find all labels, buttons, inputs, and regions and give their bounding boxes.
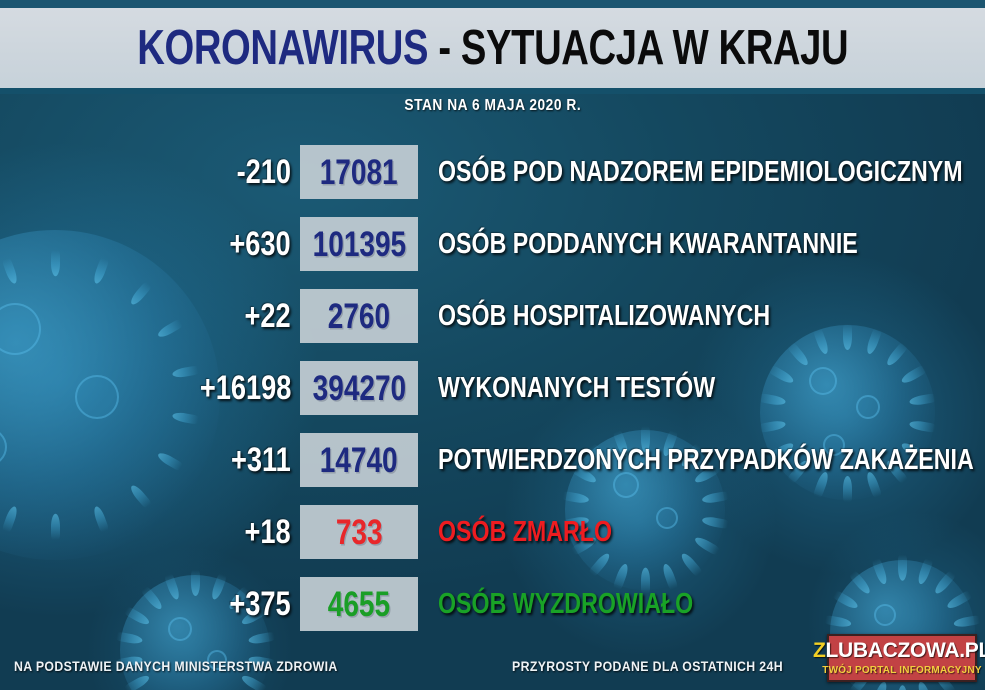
stat-row-deaths: +18 733 OSÓB ZMARŁO bbox=[0, 496, 985, 568]
stat-value-box: 101395 bbox=[300, 217, 418, 271]
virus-spike-icon bbox=[123, 673, 150, 690]
page-title-rest: - SYTUACJA W KRAJU bbox=[428, 21, 848, 75]
stat-delta: +22 bbox=[0, 299, 300, 333]
stat-row-recovered: +375 4655 OSÓB WYZDROWIAŁO bbox=[0, 568, 985, 640]
stat-label-text: OSÓB POD NADZOREM EPIDEMIOLOGICZNYM bbox=[438, 158, 963, 187]
stat-label: WYKONANYCH TESTÓW bbox=[418, 374, 985, 403]
site-logo[interactable]: ZLUBACZOWA.PL TWÓJ PORTAL INFORMACYJNY bbox=[827, 634, 977, 682]
stat-delta: +18 bbox=[0, 515, 300, 549]
logo-name-rest: LUBACZOWA.PL bbox=[825, 639, 985, 662]
stat-value-text: 733 bbox=[336, 515, 383, 550]
top-divider bbox=[0, 0, 985, 8]
coronavirus-infographic: KORONAWIRUS - SYTUACJA W KRAJU STAN NA 6… bbox=[0, 0, 985, 690]
stat-value-box: 14740 bbox=[300, 433, 418, 487]
stat-label: OSÓB POD NADZOREM EPIDEMIOLOGICZNYM bbox=[418, 158, 985, 187]
stat-label-text: OSÓB PODDANYCH KWARANTANNIE bbox=[438, 230, 858, 259]
stat-value-text: 2760 bbox=[328, 299, 390, 334]
stat-delta-text: -210 bbox=[237, 155, 291, 189]
stat-value-box: 17081 bbox=[300, 145, 418, 199]
stat-row: +16198 394270 WYKONANYCH TESTÓW bbox=[0, 352, 985, 424]
stat-label: OSÓB ZMARŁO bbox=[418, 518, 985, 547]
page-title-highlight: KORONAWIRUS bbox=[137, 21, 428, 75]
stat-delta-text: +22 bbox=[245, 299, 291, 333]
stat-value-box: 733 bbox=[300, 505, 418, 559]
stat-delta: +311 bbox=[0, 443, 300, 477]
stat-delta: +375 bbox=[0, 587, 300, 621]
stats-list: -210 17081 OSÓB POD NADZOREM EPIDEMIOLOG… bbox=[0, 136, 985, 640]
stat-label-text: OSÓB HOSPITALIZOWANYCH bbox=[438, 302, 770, 331]
logo-tagline: TWÓJ PORTAL INFORMACYJNY bbox=[822, 665, 981, 676]
virus-spike-icon bbox=[898, 685, 907, 690]
stat-value-box: 394270 bbox=[300, 361, 418, 415]
stat-label: OSÓB PODDANYCH KWARANTANNIE bbox=[418, 230, 985, 259]
stat-label: OSÓB HOSPITALIZOWANYCH bbox=[418, 302, 985, 331]
header-band: KORONAWIRUS - SYTUACJA W KRAJU bbox=[0, 8, 985, 88]
stat-delta-text: +18 bbox=[245, 515, 291, 549]
stat-delta: -210 bbox=[0, 155, 300, 189]
footer-note: PRZYROSTY PODANE DLA OSTATNICH 24H bbox=[512, 658, 820, 674]
stat-label: OSÓB WYZDROWIAŁO bbox=[418, 590, 985, 619]
stat-label-text: OSÓB ZMARŁO bbox=[438, 518, 612, 547]
stat-label-text: POTWIERDZONYCH PRZYPADKÓW ZAKAŻENIA bbox=[438, 446, 974, 475]
footer-source-text: NA PODSTAWIE DANYCH MINISTERSTWA ZDROWIA bbox=[14, 658, 338, 674]
stat-value-box: 4655 bbox=[300, 577, 418, 631]
stat-delta-text: +375 bbox=[230, 587, 291, 621]
stat-value-text: 394270 bbox=[312, 371, 405, 406]
logo-name: ZLUBACZOWA.PL bbox=[813, 640, 985, 661]
stat-label-text: OSÓB WYZDROWIAŁO bbox=[438, 590, 693, 619]
page-title: KORONAWIRUS - SYTUACJA W KRAJU bbox=[137, 24, 848, 73]
virus-spike-icon bbox=[240, 673, 267, 690]
stat-delta-text: +16198 bbox=[199, 371, 291, 405]
stat-delta: +630 bbox=[0, 227, 300, 261]
stat-row: +630 101395 OSÓB PODDANYCH KWARANTANNIE bbox=[0, 208, 985, 280]
footer-source: NA PODSTAWIE DANYCH MINISTERSTWA ZDROWIA bbox=[14, 658, 382, 674]
stat-delta-text: +630 bbox=[230, 227, 291, 261]
stat-row: +22 2760 OSÓB HOSPITALIZOWANYCH bbox=[0, 280, 985, 352]
stat-value-text: 17081 bbox=[320, 155, 398, 190]
header-bottom-divider bbox=[0, 88, 985, 94]
logo-initial: Z bbox=[813, 639, 826, 662]
stat-row: +311 14740 POTWIERDZONYCH PRZYPADKÓW ZAK… bbox=[0, 424, 985, 496]
stat-value-text: 14740 bbox=[320, 443, 398, 478]
stat-value-text: 4655 bbox=[328, 587, 390, 622]
date-subtitle-text: STAN NA 6 MAJA 2020 R. bbox=[404, 97, 581, 115]
stat-value-text: 101395 bbox=[312, 227, 405, 262]
stat-delta: +16198 bbox=[0, 371, 300, 405]
stat-label-text: WYKONANYCH TESTÓW bbox=[438, 374, 715, 403]
date-subtitle: STAN NA 6 MAJA 2020 R. bbox=[0, 97, 985, 115]
stat-row: -210 17081 OSÓB POD NADZOREM EPIDEMIOLOG… bbox=[0, 136, 985, 208]
footer-note-text: PRZYROSTY PODANE DLA OSTATNICH 24H bbox=[512, 658, 783, 674]
stat-delta-text: +311 bbox=[231, 443, 291, 477]
stat-label: POTWIERDZONYCH PRZYPADKÓW ZAKAŻENIA bbox=[418, 446, 985, 475]
stat-value-box: 2760 bbox=[300, 289, 418, 343]
